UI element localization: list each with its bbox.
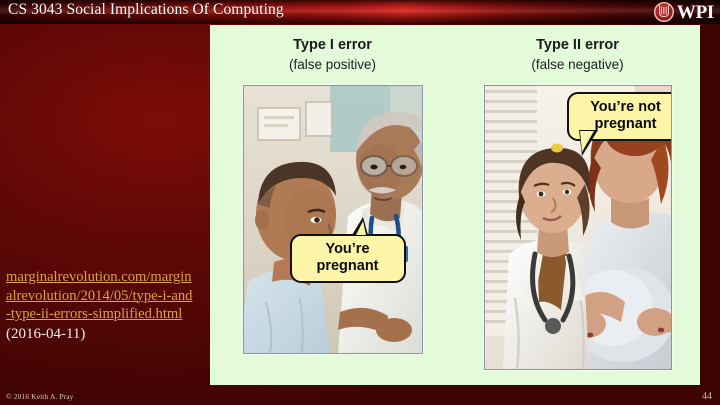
- speech-bubble-tail-icon: [579, 130, 598, 156]
- content-panel: Type I error (false positive): [210, 25, 700, 385]
- photo-male-patient-with-doctor: You’re pregnant: [243, 85, 423, 354]
- male-patient-with-doctor-illustration: [244, 86, 422, 353]
- slide-header: CS 3043 Social Implications Of Computing…: [0, 0, 720, 24]
- source-link[interactable]: marginalrevolution.com/marginalrevolutio…: [6, 268, 196, 324]
- page-number: 44: [702, 391, 712, 402]
- columns-container: Type I error (false positive): [210, 25, 700, 385]
- page-title: CS 3043 Social Implications Of Computing: [8, 1, 284, 19]
- wpi-logo-text: WPI: [677, 3, 714, 22]
- copyright-notice: © 2016 Keith A. Pray: [6, 392, 74, 401]
- speech-bubble-tail-icon: [352, 217, 368, 235]
- column-title: Type II error: [536, 37, 619, 54]
- column-title: Type I error: [293, 37, 372, 54]
- column-subtitle: (false negative): [531, 57, 623, 73]
- slide: CS 3043 Social Implications Of Computing…: [0, 0, 720, 405]
- speech-bubble-type-i: You’re pregnant: [290, 234, 406, 283]
- source-citation: marginalrevolution.com/marginalrevolutio…: [6, 268, 196, 344]
- wpi-logo: WPI: [654, 0, 714, 24]
- source-date: (2016-04-11): [6, 325, 196, 344]
- column-type-ii-error: Type II error (false negative): [455, 25, 700, 385]
- wpi-seal-icon: [654, 2, 674, 22]
- column-subtitle: (false positive): [289, 57, 376, 73]
- column-type-i-error: Type I error (false positive): [210, 25, 455, 385]
- speech-bubble-type-ii-tail-holder: [567, 92, 663, 132]
- photo-doctor-with-pregnant-woman: You’re not pregnant: [484, 85, 672, 370]
